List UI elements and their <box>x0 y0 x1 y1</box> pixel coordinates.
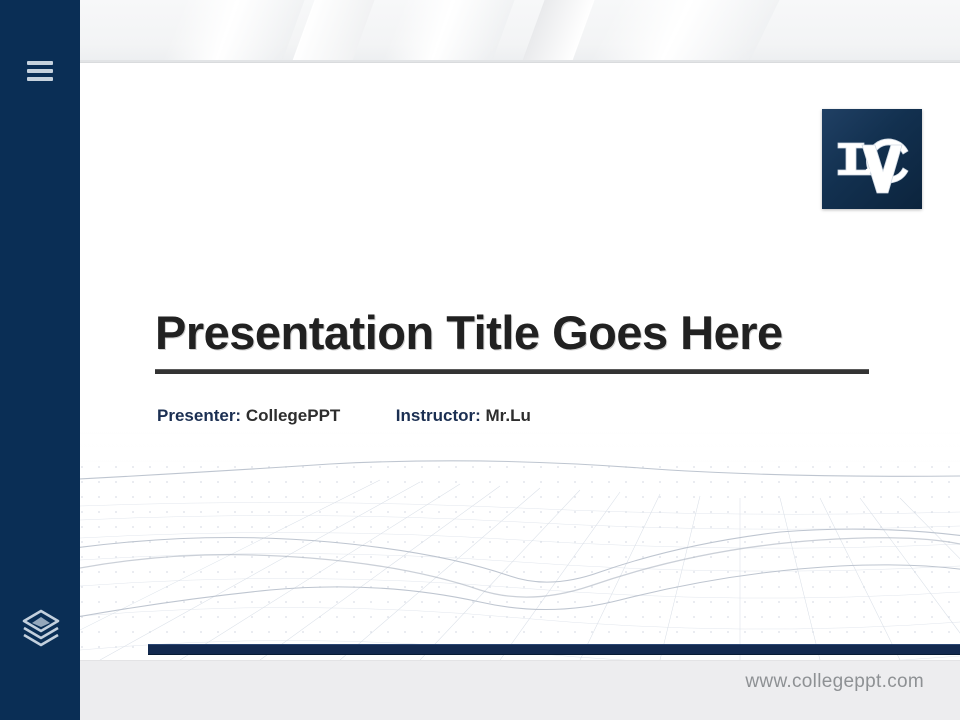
presenter-label: Presenter: <box>157 406 241 425</box>
byline: Presenter: CollegePPT Instructor: Mr.Lu <box>157 406 531 426</box>
stacked-layers-glyph <box>18 604 64 650</box>
lvc-logo-glyph <box>822 109 922 209</box>
presenter-value: CollegePPT <box>246 406 340 425</box>
title-underline-rule <box>155 369 869 374</box>
hamburger-line <box>27 61 53 65</box>
title-block: Presentation Title Goes Here <box>155 308 870 374</box>
page-background-top-band <box>0 0 960 63</box>
instructor-value: Mr.Lu <box>486 406 531 425</box>
background-swoosh <box>141 0 319 63</box>
slide-bottom-bar <box>148 644 960 655</box>
wireframe-mesh-background <box>80 420 960 660</box>
background-swoosh <box>561 0 799 63</box>
hamburger-line <box>27 77 53 81</box>
site-watermark: www.collegeppt.com <box>745 671 924 693</box>
left-sidebar <box>0 0 80 720</box>
stacked-layers-icon[interactable] <box>18 604 64 650</box>
hamburger-line <box>27 69 53 73</box>
lvc-logo <box>822 109 922 209</box>
instructor-label: Instructor: <box>396 406 481 425</box>
hamburger-menu-icon[interactable] <box>27 61 53 81</box>
page-title: Presentation Title Goes Here <box>155 308 870 358</box>
background-swoosh <box>361 0 529 63</box>
lvc-logo-dot <box>865 168 870 173</box>
stacked-layers-fill <box>32 617 50 627</box>
presentation-slide: Presentation Title Goes Here Presenter: … <box>80 63 960 660</box>
